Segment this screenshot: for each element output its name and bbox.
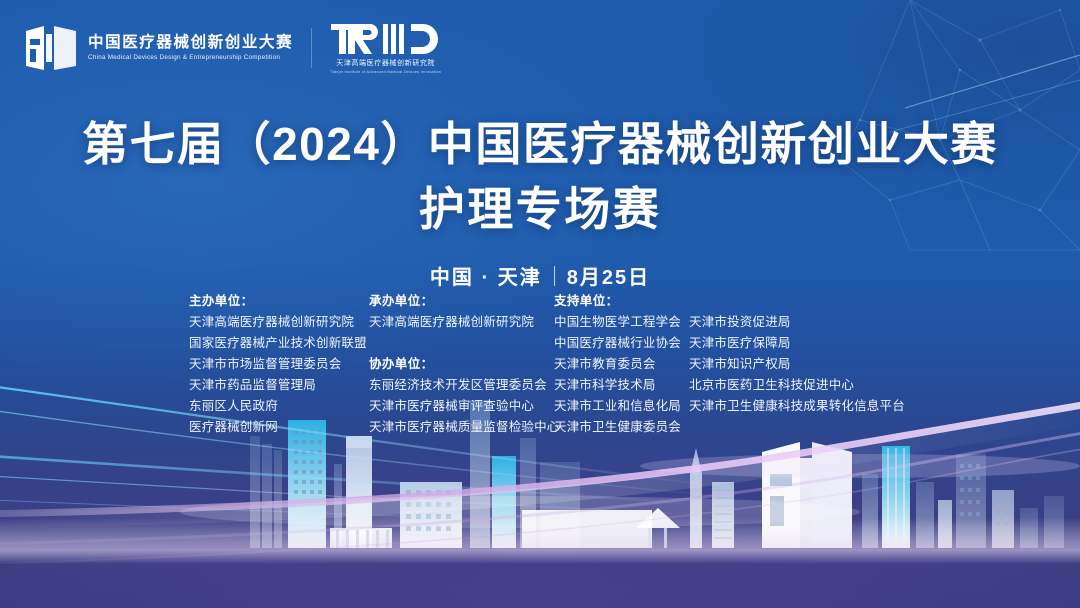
organizer-item: 东丽经济技术开发区管理委员会: [369, 375, 554, 396]
organizer-item: 天津市教育委员会: [554, 354, 689, 375]
organizer-item: 天津高端医疗器械创新研究院: [369, 312, 554, 333]
organizer-group-heading: 支持单位：: [554, 291, 689, 312]
competition-name-cn: 中国医疗器械创新创业大赛: [88, 35, 293, 51]
event-title-line1: 第七届（2024）中国医疗器械创新创业大赛: [0, 116, 1080, 174]
door-mark-icon: [24, 25, 78, 71]
logo-divider: [311, 28, 312, 68]
organizer-item: 天津市投资促进局: [689, 312, 905, 333]
organizer-list: 主办单位： 天津高端医疗器械创新研究院 国家医疗器械产业技术创新联盟 天津市市场…: [189, 291, 919, 438]
organizer-item: 东丽区人民政府: [189, 396, 369, 417]
event-date: 8月25日: [567, 261, 650, 290]
organizer-item: 国家医疗器械产业技术创新联盟: [189, 333, 369, 354]
organizer-column-host: 主办单位： 天津高端医疗器械创新研究院 国家医疗器械产业技术创新联盟 天津市市场…: [189, 291, 369, 438]
event-title-line2: 护理专场赛: [0, 180, 1080, 240]
organizer-item: 天津市市场监督管理委员会: [189, 354, 369, 375]
organizer-column-supporter-b: 天津市投资促进局 天津市医疗保障局 天津市知识产权局 北京市医药卫生科技促进中心…: [689, 291, 905, 438]
event-subtitle: 中国 · 天津 8月25日: [0, 261, 1080, 290]
title-block: 第七届（2024）中国医疗器械创新创业大赛 护理专场赛 中国 · 天津 8月25…: [0, 116, 1080, 290]
organizer-item: 天津市药品监督管理局: [189, 375, 369, 396]
event-location: 中国 · 天津: [430, 261, 542, 290]
institute-name-en: Tianjin Institute of Advanced Medical De…: [330, 70, 441, 74]
institute-logo: 天津高端医疗器械创新研究院 Tianjin Institute of Advan…: [330, 22, 441, 74]
header-logos: 中国医疗器械创新创业大赛 China Medical Devices Desig…: [24, 22, 441, 74]
subtitle-separator: [554, 266, 555, 286]
organizer-item: 天津市知识产权局: [689, 354, 905, 375]
organizer-group-spacer: [689, 291, 905, 312]
institute-name-cn: 天津高端医疗器械创新研究院: [336, 60, 435, 67]
organizer-item: 天津市卫生健康委员会: [554, 417, 689, 438]
organizer-item: 医疗器械创新网: [189, 417, 369, 438]
competition-name-en: China Medical Devices Design & Entrepren…: [88, 55, 297, 61]
trimd-wordmark-icon: [331, 22, 441, 56]
organizer-item: 天津市医疗保障局: [689, 333, 905, 354]
organizer-item: 天津市工业和信息化局: [554, 396, 689, 417]
organizer-group-heading: 主办单位：: [189, 291, 369, 312]
competition-logo: 中国医疗器械创新创业大赛 China Medical Devices Desig…: [24, 25, 293, 71]
organizer-item: 天津市卫生健康科技成果转化信息平台: [689, 396, 905, 417]
organizer-item: 天津市科学技术局: [554, 375, 689, 396]
organizer-column-supporter-a: 支持单位： 中国生物医学工程学会 中国医疗器械行业协会 天津市教育委员会 天津市…: [554, 291, 689, 438]
organizer-group-heading: 承办单位：: [369, 291, 554, 312]
organizer-item: 天津高端医疗器械创新研究院: [189, 312, 369, 333]
event-poster: 中国医疗器械创新创业大赛 China Medical Devices Desig…: [0, 0, 1080, 608]
organizer-item: 北京市医药卫生科技促进中心: [689, 375, 905, 396]
competition-logo-text: 中国医疗器械创新创业大赛 China Medical Devices Desig…: [88, 35, 293, 61]
organizer-group-spacer: [369, 333, 554, 354]
organizer-item: 天津市医疗器械质量监督检验中心: [369, 417, 554, 438]
organizer-item: 天津市医疗器械审评查验中心: [369, 396, 554, 417]
organizer-item: 中国生物医学工程学会: [554, 312, 689, 333]
organizer-group-heading: 协办单位：: [369, 354, 554, 375]
organizer-item: 中国医疗器械行业协会: [554, 333, 689, 354]
organizer-column-undertaker: 承办单位： 天津高端医疗器械创新研究院 协办单位： 东丽经济技术开发区管理委员会…: [369, 291, 554, 438]
